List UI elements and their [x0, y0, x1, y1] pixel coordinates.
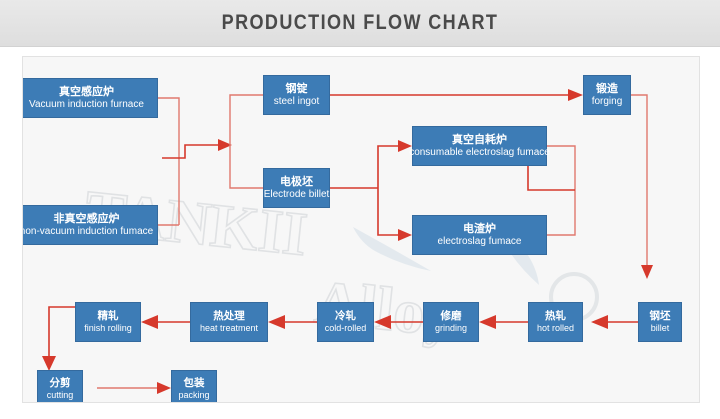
node-label-cn: 热轧 — [545, 311, 566, 323]
chart-panel: TANKII Alloy — [22, 56, 700, 403]
edge-finish-to-cutting — [49, 307, 75, 356]
arrow-grinding — [479, 315, 496, 329]
node-label-cn: 电极坯 — [280, 176, 313, 188]
node-packing[interactable]: 包装 packing — [171, 370, 217, 403]
node-label-cn: 钢坯 — [650, 311, 671, 323]
arrow-down-cutting — [42, 356, 56, 371]
arrow-hotrolled — [591, 315, 608, 329]
node-cold-rolled[interactable]: 冷轧 cold-rolled — [317, 302, 374, 342]
edge-vacuum-to-bus — [158, 98, 179, 225]
node-label-en: forging — [592, 96, 623, 107]
node-label-en: non-vacuum induction fumace — [22, 226, 153, 237]
node-label-cn: 电渣炉 — [463, 223, 496, 235]
node-label-en: steel ingot — [274, 96, 320, 107]
arrow-merge — [218, 139, 232, 151]
edge-bus-to-steel-ingot — [230, 95, 263, 145]
arrow-to-electroslag — [398, 229, 412, 241]
node-label-cn: 热处理 — [213, 311, 245, 323]
node-label-cn: 真空自耗炉 — [452, 134, 507, 146]
node-label-cn: 锻造 — [596, 83, 618, 95]
node-consumable-electroslag-furnace[interactable]: 真空自耗炉 consumable electroslag fumace — [412, 126, 547, 166]
node-label-cn: 真空感应炉 — [59, 86, 114, 98]
node-label-cn: 修磨 — [441, 311, 462, 323]
node-electrode-billet[interactable]: 电极坯 Electrode billet — [263, 168, 330, 208]
node-label-cn: 包装 — [184, 378, 205, 390]
edge-bus-to-electrode-billet — [230, 145, 263, 188]
node-label-en: cold-rolled — [325, 323, 367, 333]
node-label-cn: 非真空感应炉 — [54, 213, 120, 225]
node-cutting[interactable]: 分剪 cutting — [37, 370, 83, 403]
header-bar: PRODUCTION FLOW CHART — [0, 0, 720, 47]
node-forging[interactable]: 锻造 forging — [583, 75, 631, 115]
node-billet[interactable]: 钢坯 billet — [638, 302, 682, 342]
edge-billet-to-electroslag — [378, 188, 398, 235]
page-title: PRODUCTION FLOW CHART — [50, 11, 669, 35]
node-steel-ingot[interactable]: 钢锭 steel ingot — [263, 75, 330, 115]
node-heat-treatment[interactable]: 热处理 heat treatment — [190, 302, 268, 342]
edge-forging-to-billet — [615, 95, 647, 265]
arrow-coldrolled — [374, 315, 391, 329]
node-grinding[interactable]: 修磨 grinding — [423, 302, 479, 342]
node-label-en: packing — [178, 390, 209, 400]
node-vacuum-induction-furnace[interactable]: 真空感应炉 Vacuum induction furnace — [22, 78, 158, 118]
node-label-en: cutting — [47, 390, 74, 400]
node-label-en: electroslag fumace — [438, 236, 522, 247]
node-label-en: consumable electroslag fumace — [409, 147, 550, 158]
edge-furnaces-merge — [547, 146, 575, 235]
arrow-down-billet — [641, 265, 653, 279]
node-label-cn: 冷轧 — [335, 311, 356, 323]
node-non-vacuum-induction-furnace[interactable]: 非真空感应炉 non-vacuum induction fumace — [22, 205, 158, 245]
arrow-ingot-forging — [568, 89, 583, 101]
node-label-en: Electrode billet — [264, 189, 330, 200]
flow-chart-page: PRODUCTION FLOW CHART TANKII Alloy — [0, 0, 720, 419]
node-hot-rolled[interactable]: 热轧 hot rolled — [528, 302, 583, 342]
node-label-en: hot rolled — [537, 323, 574, 333]
node-label-en: billet — [651, 323, 670, 333]
edge-bus-step — [162, 145, 218, 158]
node-finish-rolling[interactable]: 精轧 finish rolling — [75, 302, 141, 342]
node-label-en: grinding — [435, 323, 467, 333]
node-label-en: finish rolling — [84, 323, 132, 333]
node-label-en: Vacuum induction furnace — [29, 99, 144, 110]
arrow-packing — [157, 382, 171, 394]
node-label-cn: 分剪 — [50, 378, 71, 390]
node-electroslag-furnace[interactable]: 电渣炉 electroslag fumace — [412, 215, 547, 255]
arrow-finish — [141, 315, 158, 329]
edge-billet-to-consumable — [378, 146, 398, 188]
arrow-heat — [268, 315, 285, 329]
node-label-en: heat treatment — [200, 323, 258, 333]
node-label-cn: 钢锭 — [286, 83, 308, 95]
node-label-cn: 精轧 — [98, 311, 119, 323]
